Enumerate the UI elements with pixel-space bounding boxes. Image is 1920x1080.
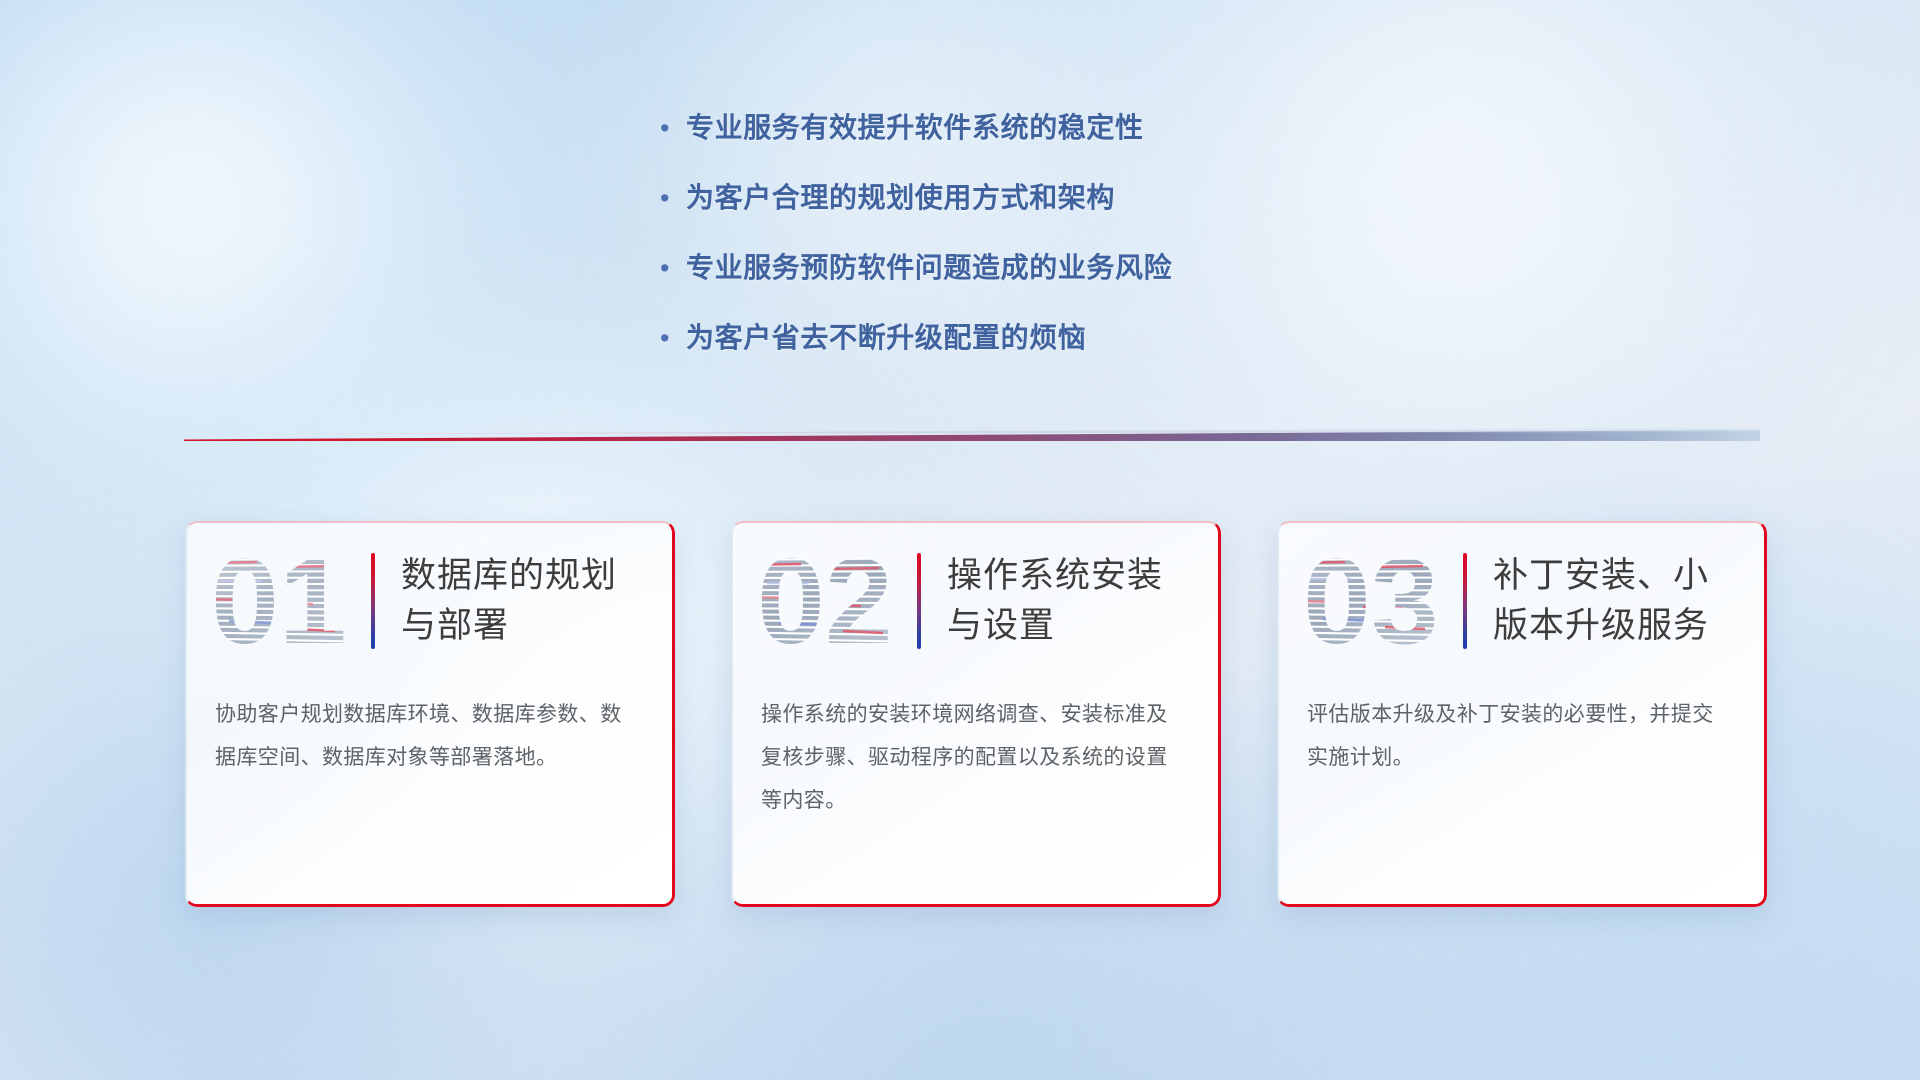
- bullet-marker-icon: •: [660, 178, 686, 218]
- sliced-number-glyph: 02: [755, 545, 905, 657]
- card-divider-bar: [917, 553, 921, 649]
- service-card-01[interactable]: 01: [185, 521, 675, 907]
- benefits-bullet-list: • 专业服务有效提升软件系统的稳定性 • 为客户合理的规划使用方式和架构 • 专…: [660, 108, 1420, 388]
- card-number-02-icon: 02: [755, 545, 905, 657]
- card-divider-bar: [1463, 553, 1467, 649]
- card-divider-bar: [371, 553, 375, 649]
- bullet-marker-icon: •: [660, 318, 686, 358]
- section-divider: [184, 424, 1760, 446]
- bullet-marker-icon: •: [660, 248, 686, 288]
- service-card-03[interactable]: 03: [1277, 521, 1767, 907]
- sliced-number-glyph: 01: [209, 545, 359, 657]
- card-header: 01: [185, 521, 675, 681]
- card-number-01-icon: 01: [209, 545, 359, 657]
- card-title: 操作系统安装与设置: [947, 551, 1195, 651]
- list-item: • 专业服务预防软件问题造成的业务风险: [660, 248, 1420, 288]
- card-header: 02: [731, 521, 1221, 681]
- bullet-text: 为客户省去不断升级配置的烦恼: [686, 318, 1086, 358]
- card-number-03-icon: 03: [1301, 545, 1451, 657]
- card-body-text: 操作系统的安装环境网络调查、安装标准及复核步骤、驱动程序的配置以及系统的设置等内…: [731, 681, 1221, 822]
- card-title: 数据库的规划与部署: [401, 551, 649, 651]
- card-body-text: 协助客户规划数据库环境、数据库参数、数据库空间、数据库对象等部署落地。: [185, 681, 675, 779]
- bullet-text: 专业服务有效提升软件系统的稳定性: [686, 108, 1144, 148]
- card-body-text: 评估版本升级及补丁安装的必要性，并提交实施计划。: [1277, 681, 1767, 779]
- bullet-text: 为客户合理的规划使用方式和架构: [686, 178, 1115, 218]
- card-title: 补丁安装、小版本升级服务: [1493, 551, 1741, 651]
- service-card-list: 01: [185, 521, 1767, 907]
- bullet-text: 专业服务预防软件问题造成的业务风险: [686, 248, 1172, 288]
- bullet-marker-icon: •: [660, 108, 686, 148]
- list-item: • 为客户省去不断升级配置的烦恼: [660, 318, 1420, 358]
- card-header: 03: [1277, 521, 1767, 681]
- sliced-number-glyph: 03: [1301, 545, 1451, 657]
- service-card-02[interactable]: 02: [731, 521, 1221, 907]
- list-item: • 专业服务有效提升软件系统的稳定性: [660, 108, 1420, 148]
- list-item: • 为客户合理的规划使用方式和架构: [660, 178, 1420, 218]
